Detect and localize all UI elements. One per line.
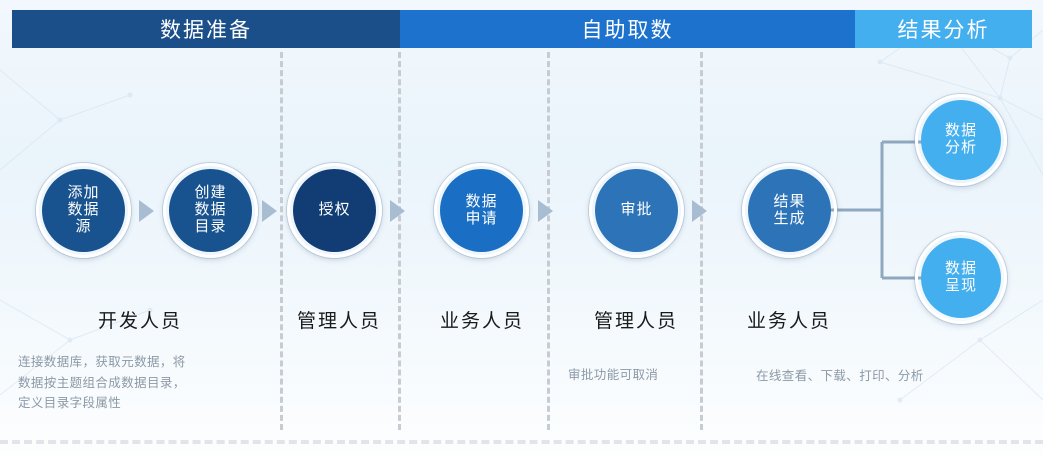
phase-header-self-service-query: 自助取数	[400, 10, 855, 48]
column-divider-4	[700, 52, 703, 430]
phase-header-result-analysis: 结果分析	[855, 10, 1032, 48]
column-divider-3	[547, 52, 550, 430]
bottom-divider	[0, 440, 1043, 444]
flow-arrow-4	[538, 200, 553, 222]
role-label-developer: 开发人员	[40, 306, 240, 333]
column-divider-1	[280, 52, 283, 430]
node-label: 数据 分析	[945, 123, 977, 157]
node-label: 审批	[620, 202, 652, 219]
node-result-generation[interactable]: 结果 生成	[748, 169, 831, 252]
node-data-presentation[interactable]: 数据 呈现	[921, 238, 1001, 318]
node-label: 数据 呈现	[945, 261, 977, 295]
node-label: 授权	[318, 202, 350, 219]
flow-arrow-5	[692, 200, 707, 222]
node-add-data-source[interactable]: 添加 数据 源	[42, 169, 125, 252]
description-data-preparation: 连接数据库，获取元数据，将 数据按主题组合成数据目录， 定义目录字段属性	[18, 352, 276, 414]
node-authorization[interactable]: 授权	[293, 169, 376, 252]
node-label: 创建 数据 目录	[194, 185, 226, 235]
role-label-administrator-2: 管理人员	[581, 306, 691, 333]
node-data-analysis[interactable]: 数据 分析	[921, 100, 1001, 180]
description-approval: 审批功能可取消	[568, 365, 698, 386]
phase-header-bar: 数据准备 自助取数 结果分析	[12, 10, 1032, 48]
role-label-business-1: 业务人员	[427, 306, 537, 333]
flow-arrow-2	[262, 200, 277, 222]
description-result-analysis: 在线查看、下载、打印、分析	[756, 366, 1006, 387]
node-data-request[interactable]: 数据 申请	[440, 169, 523, 252]
process-flow-diagram: 数据准备 自助取数 结果分析 添加 数据 源	[0, 0, 1043, 456]
role-label-administrator-1: 管理人员	[284, 306, 394, 333]
node-label: 结果 生成	[773, 194, 805, 228]
phase-header-data-preparation: 数据准备	[12, 10, 400, 48]
flow-arrow-3	[390, 200, 405, 222]
node-approval[interactable]: 审批	[595, 169, 678, 252]
column-divider-2	[398, 52, 401, 430]
role-label-business-2: 业务人员	[734, 306, 844, 333]
node-create-data-catalog[interactable]: 创建 数据 目录	[169, 169, 252, 252]
phase-header-label: 数据准备	[160, 14, 252, 44]
node-label: 数据 申请	[465, 194, 497, 228]
flow-arrow-1	[139, 200, 154, 222]
phase-header-label: 自助取数	[582, 14, 674, 44]
phase-header-label: 结果分析	[898, 14, 990, 44]
node-label: 添加 数据 源	[67, 185, 99, 235]
